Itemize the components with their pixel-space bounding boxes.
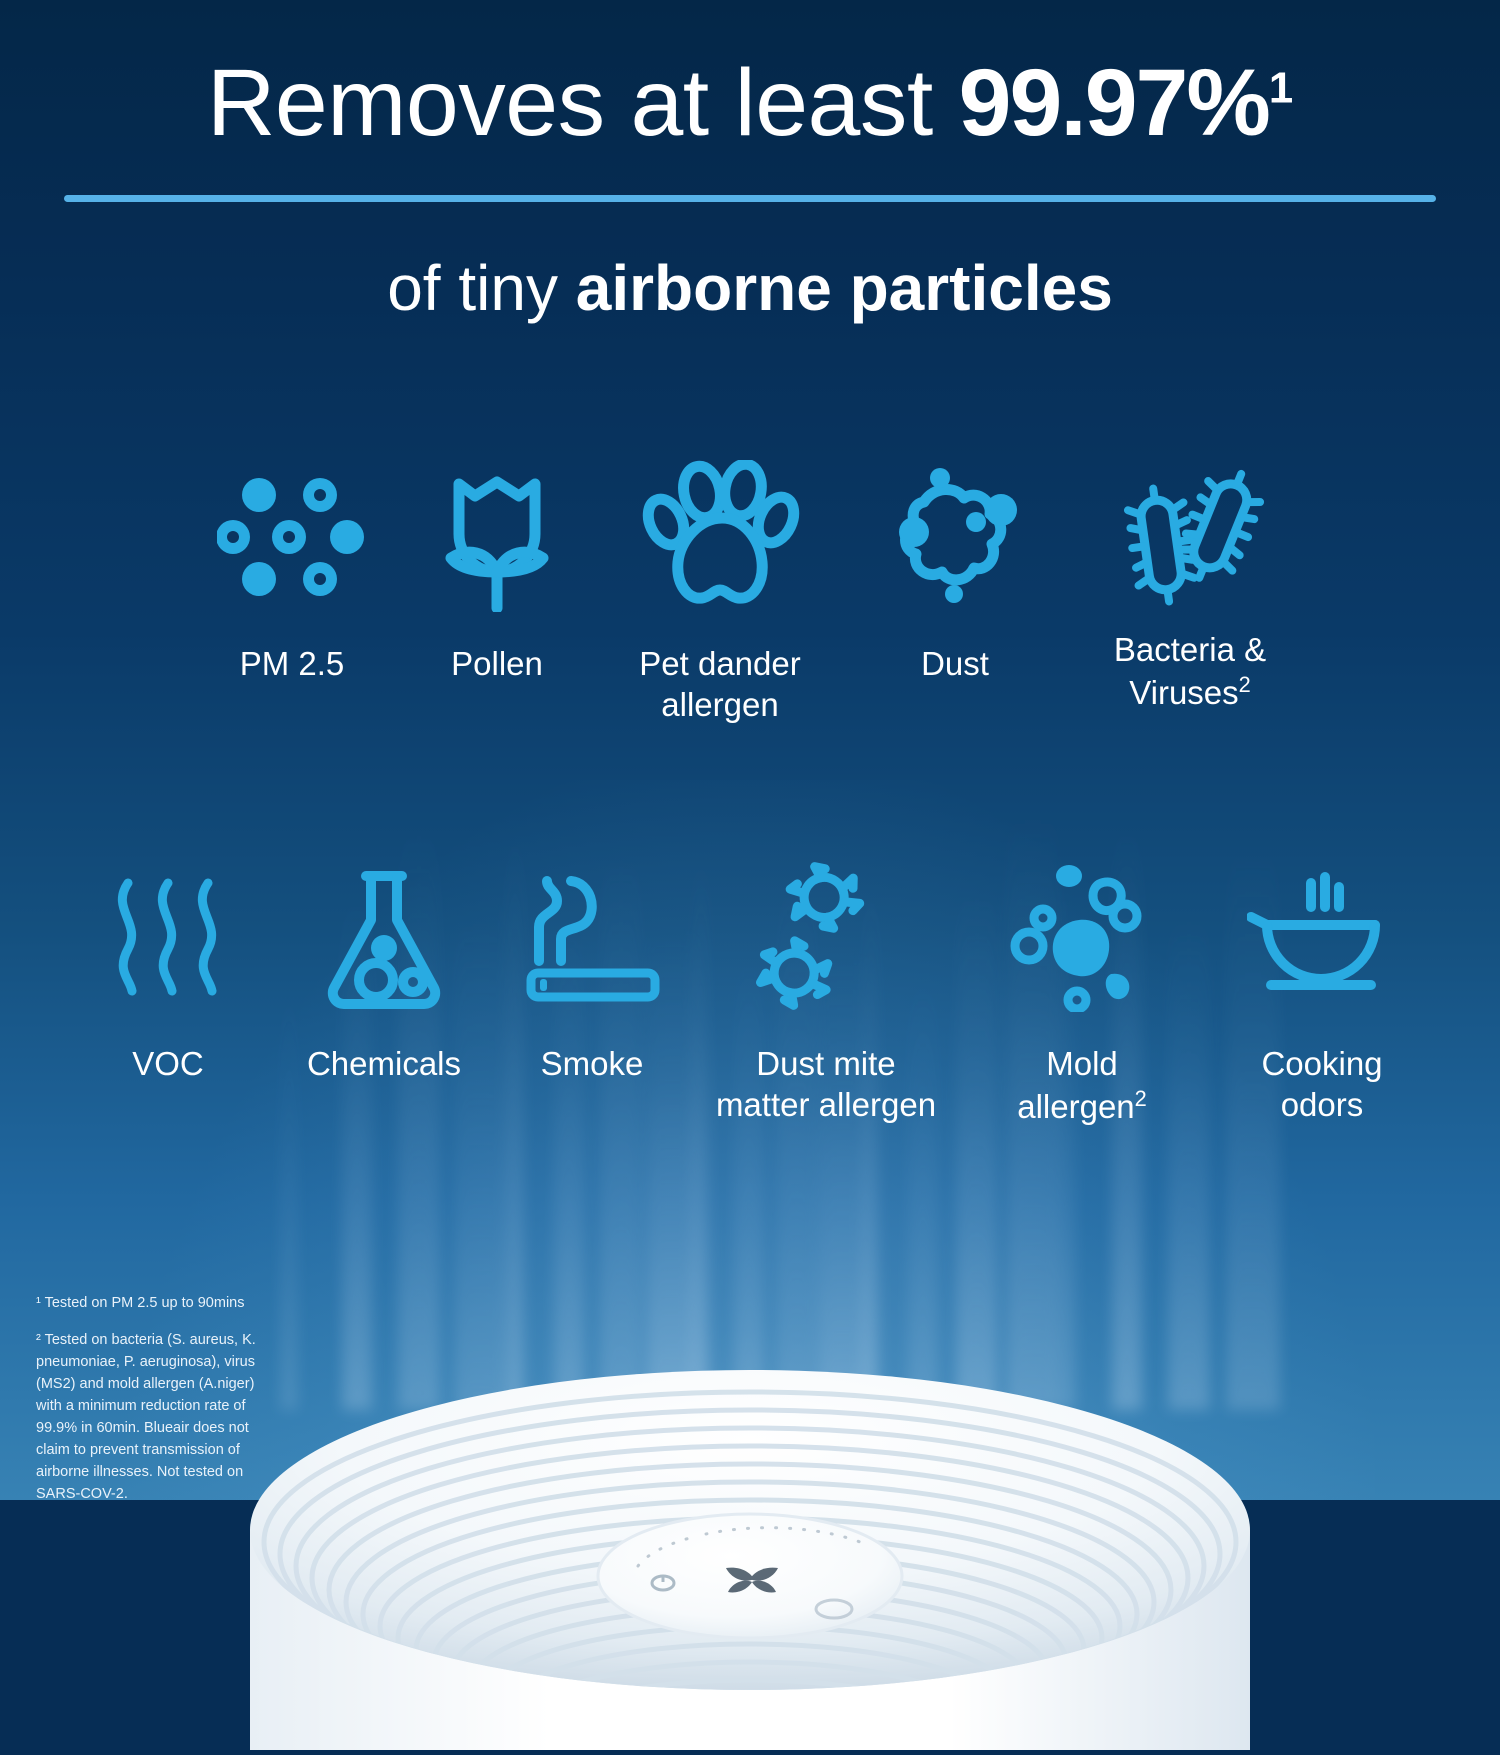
pollutant-label: Pollen (451, 644, 543, 685)
page-title: Removes at least 99.97%1 (0, 0, 1500, 151)
subhead-prefix: of tiny (387, 252, 576, 324)
bacteria-rods-icon (1115, 452, 1265, 622)
pollutant-label: Smoke (541, 1044, 644, 1085)
pollutant-label: Pet dander allergen (639, 644, 800, 726)
pollutant-row-1: PM 2.5 Pollen Pet dander allergen (0, 452, 1500, 726)
erlenmeyer-flask-icon (314, 852, 454, 1022)
header: Removes at least 99.97%1 of tiny airborn… (0, 0, 1500, 320)
pollutant-item-pollen: Pollen (399, 452, 595, 685)
mold-spores-icon (1007, 852, 1157, 1022)
pollutant-label: Dust (921, 644, 989, 685)
pollutant-item-bacteria-viruses: Bacteria & Viruses2 (1065, 452, 1315, 714)
pollutant-item-pet-dander: Pet dander allergen (595, 452, 845, 726)
pollutant-item-cooking-odors: Cooking odors (1204, 852, 1440, 1126)
blueair-leaf-logo (726, 1568, 778, 1593)
vapor-waves-icon (98, 852, 238, 1022)
power-icon (652, 1576, 674, 1590)
footnotes: ¹ Tested on PM 2.5 up to 90mins ² Tested… (36, 1292, 268, 1505)
pollutant-item-dust-mite: Dust mite matter allergen (692, 852, 960, 1126)
pollutant-label: Mold allergen2 (1017, 1044, 1147, 1128)
dust-cloud-icon (880, 452, 1030, 622)
headline-prefix: Removes at least (207, 50, 959, 156)
footnote-2: ² Tested on bacteria (S. aureus, K. pneu… (36, 1329, 268, 1505)
headline-percentage: 99.97% (959, 50, 1269, 156)
dust-mite-icon (756, 852, 896, 1022)
tulip-flower-icon (437, 452, 557, 622)
pollutant-item-mold: Mold allergen2 (960, 852, 1204, 1128)
pollutant-item-voc: VOC (60, 852, 276, 1085)
pollutant-label: Bacteria & Viruses2 (1114, 630, 1266, 714)
subhead-strong: airborne particles (576, 252, 1113, 324)
pollutant-label: Dust mite matter allergen (716, 1044, 936, 1126)
pollutant-footnote-marker: 2 (1239, 672, 1251, 697)
paw-print-icon (640, 452, 800, 622)
cigarette-smoke-icon (517, 852, 667, 1022)
pollutant-row-2: VOC Chemicals (0, 852, 1500, 1128)
pollutant-label: Cooking odors (1261, 1044, 1382, 1126)
pollutant-item-smoke: Smoke (492, 852, 692, 1085)
footnote-1: ¹ Tested on PM 2.5 up to 90mins (36, 1292, 268, 1314)
particles-dots-icon (217, 452, 367, 622)
pollutant-item-pm25: PM 2.5 (185, 452, 399, 685)
pollutant-item-chemicals: Chemicals (276, 852, 492, 1085)
pollutant-label: Chemicals (307, 1044, 461, 1085)
headline-footnote-marker: 1 (1269, 63, 1293, 112)
page-subtitle: of tiny airborne particles (0, 202, 1500, 320)
steaming-pan-icon (1247, 852, 1397, 1022)
pollutant-item-dust: Dust (845, 452, 1065, 685)
pollutant-label: VOC (132, 1044, 204, 1085)
indicator-icon (816, 1600, 852, 1618)
pollutant-label: PM 2.5 (240, 644, 345, 685)
pollutant-footnote-marker: 2 (1135, 1086, 1147, 1111)
pollutant-label-text: Mold allergen (1017, 1045, 1134, 1125)
divider-rule (64, 195, 1436, 202)
